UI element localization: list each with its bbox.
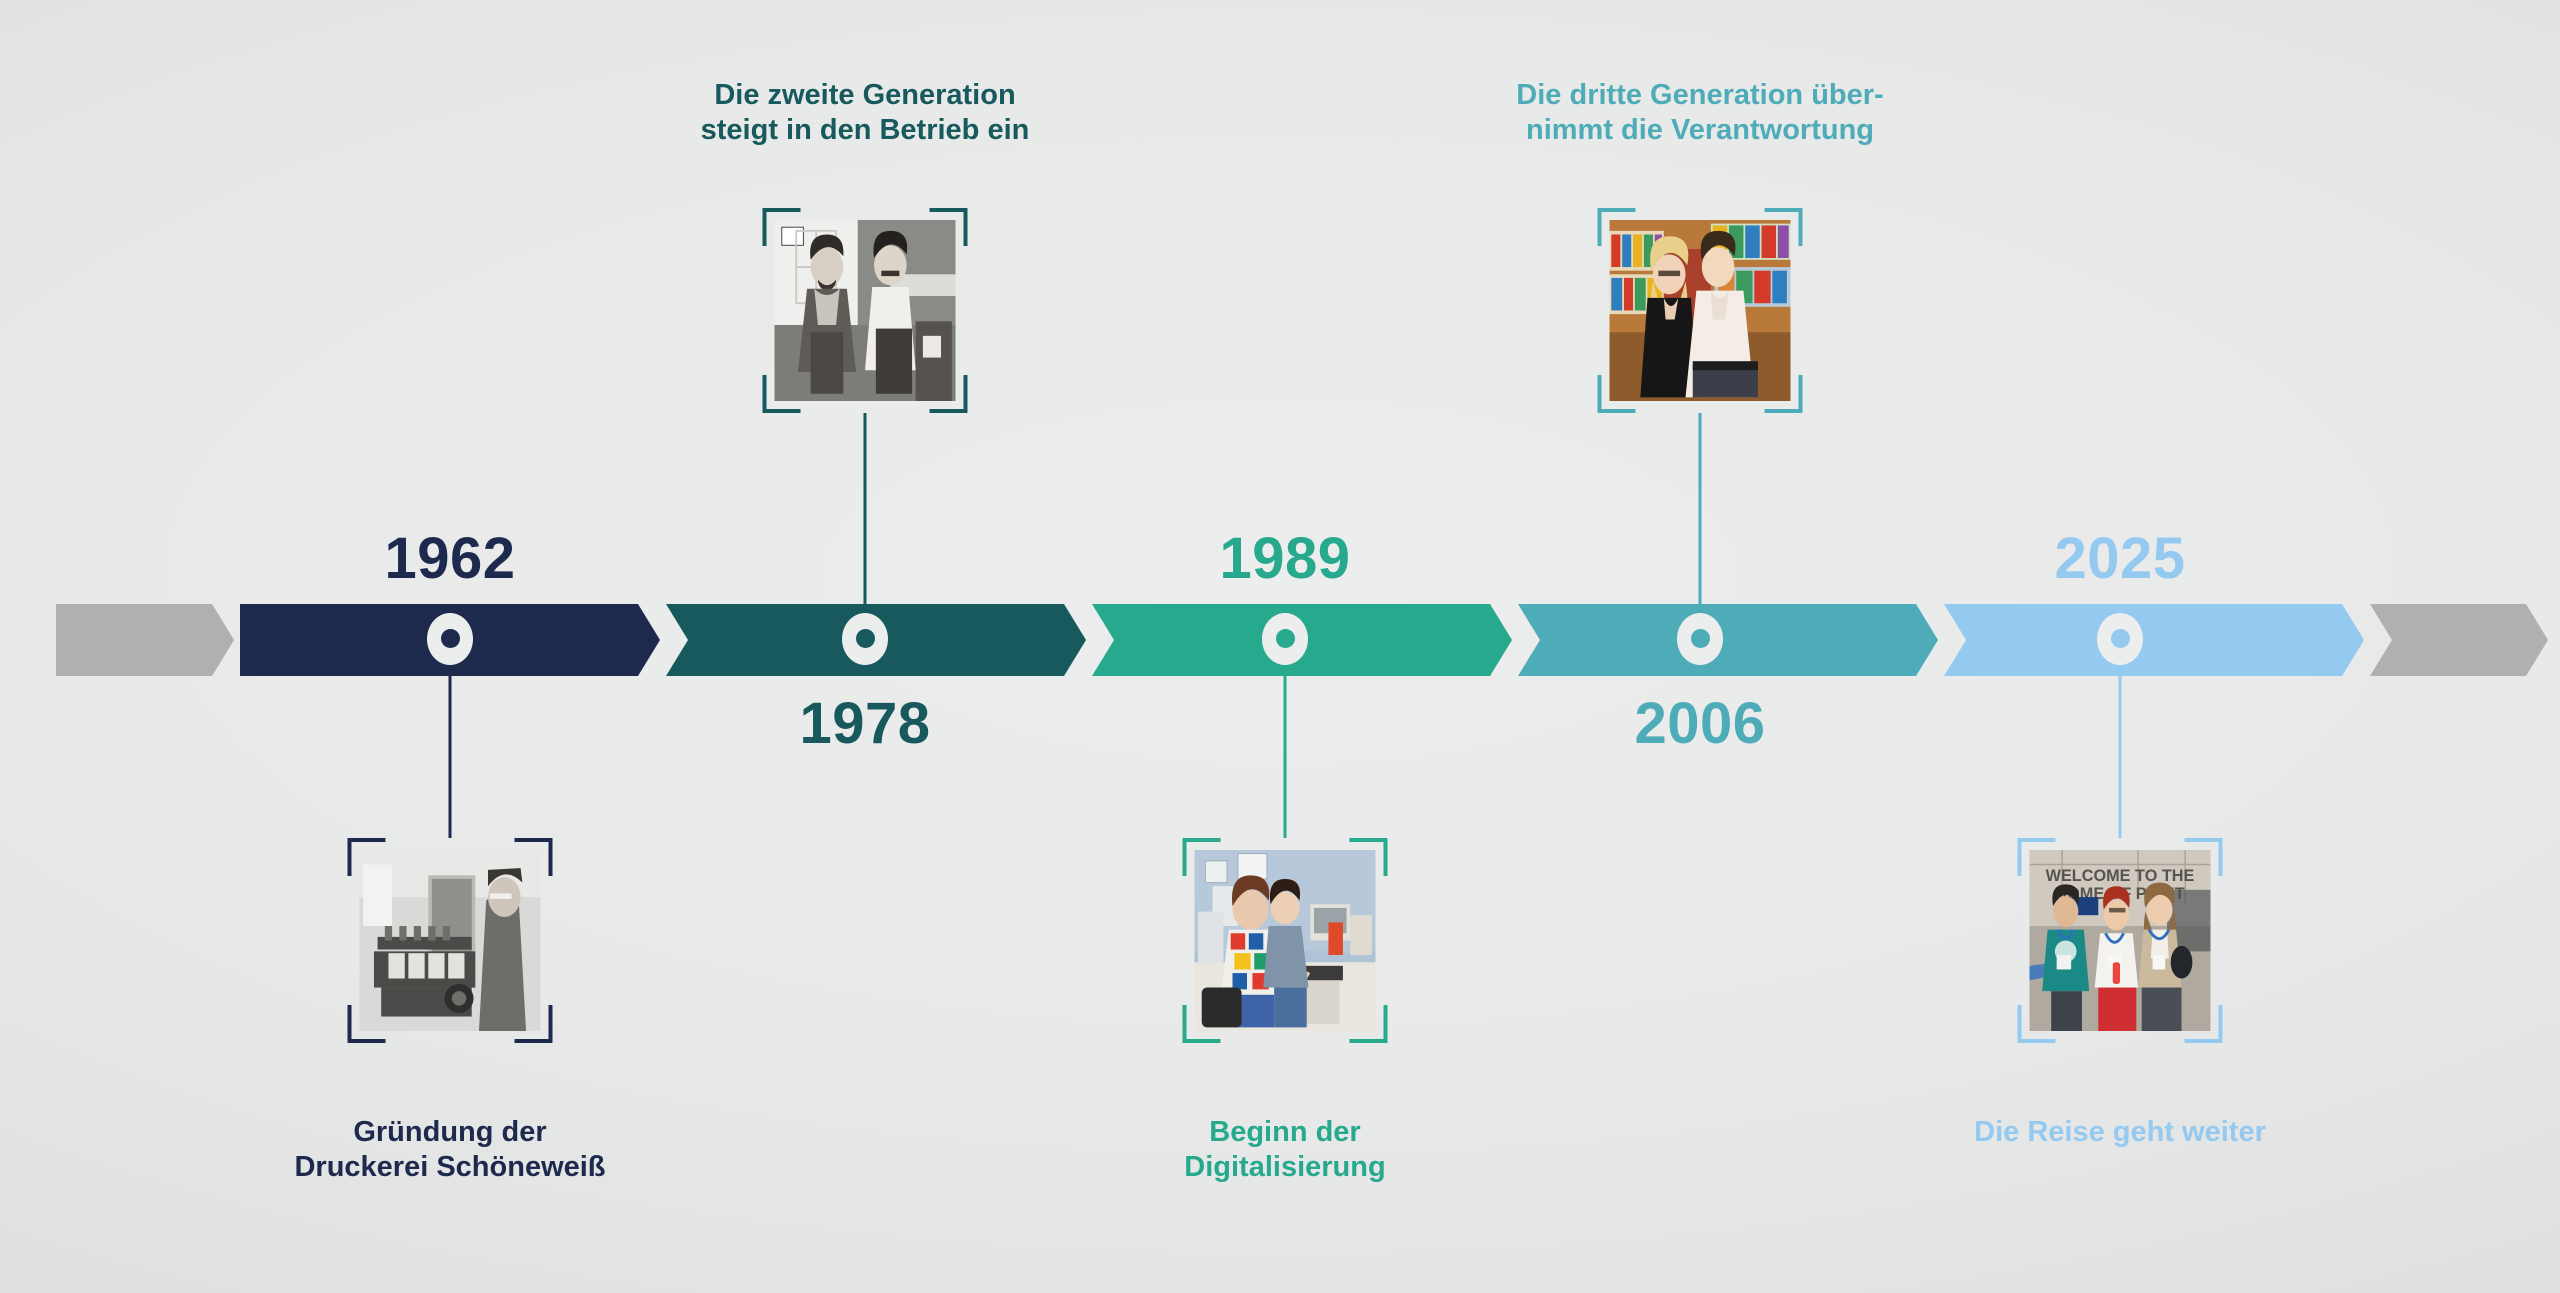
photo-image-1978: [775, 220, 956, 401]
milestone-caption-1978: Die zweite Generation steigt in den Betr…: [701, 78, 1030, 149]
timeline-marker-1962[interactable]: [427, 613, 473, 665]
marker-dot-icon: [1276, 629, 1295, 648]
milestone-caption-2025: Die Reise geht weiter: [1974, 1115, 2266, 1150]
connector-line-1962: [449, 638, 452, 838]
year-label-2006: 2006: [1634, 690, 1765, 757]
timeline-segment-end-cap: [2370, 604, 2548, 676]
marker-dot-icon: [1691, 629, 1710, 648]
photo-image-1962: [360, 850, 541, 1031]
timeline-marker-2006[interactable]: [1677, 613, 1723, 665]
connector-line-2025: [2119, 638, 2122, 838]
connector-line-1978: [864, 413, 867, 638]
timeline-infographic: 1962Gründung der Druckerei Schöneweiß: [0, 0, 2560, 1293]
timeline-segment-2025: [1944, 604, 2364, 676]
year-label-2025: 2025: [2054, 525, 2185, 592]
milestone-photo-2025[interactable]: WELCOME TO THE HOME OF PRINT: [2018, 838, 2223, 1043]
photo-image-1989: [1195, 850, 1376, 1031]
milestone-caption-1962: Gründung der Druckerei Schöneweiß: [294, 1115, 605, 1186]
milestone-caption-2006: Die dritte Generation über- nimmt die Ve…: [1516, 78, 1883, 149]
milestone-photo-2006[interactable]: [1598, 208, 1803, 413]
marker-dot-icon: [856, 629, 875, 648]
milestone-photo-1978[interactable]: [763, 208, 968, 413]
year-label-1962: 1962: [384, 525, 515, 592]
timeline-marker-1978[interactable]: [842, 613, 888, 665]
timeline-marker-2025[interactable]: [2097, 613, 2143, 665]
timeline-marker-1989[interactable]: [1262, 613, 1308, 665]
svg-text:WELCOME TO THE: WELCOME TO THE: [2046, 867, 2195, 885]
marker-dot-icon: [2111, 629, 2130, 648]
marker-dot-icon: [441, 629, 460, 648]
milestone-photo-1962[interactable]: [348, 838, 553, 1043]
timeline-segment-start-cap: [56, 604, 234, 676]
milestone-caption-1989: Beginn der Digitalisierung: [1184, 1115, 1385, 1186]
photo-image-2006: [1610, 220, 1791, 401]
connector-line-2006: [1699, 413, 1702, 638]
connector-line-1989: [1284, 638, 1287, 838]
year-label-1978: 1978: [799, 690, 930, 757]
timeline-segment-2006: [1518, 604, 1938, 676]
photo-image-2025: WELCOME TO THE HOME OF PRINT: [2030, 850, 2211, 1031]
milestone-photo-1989[interactable]: [1183, 838, 1388, 1043]
year-label-1989: 1989: [1219, 525, 1350, 592]
